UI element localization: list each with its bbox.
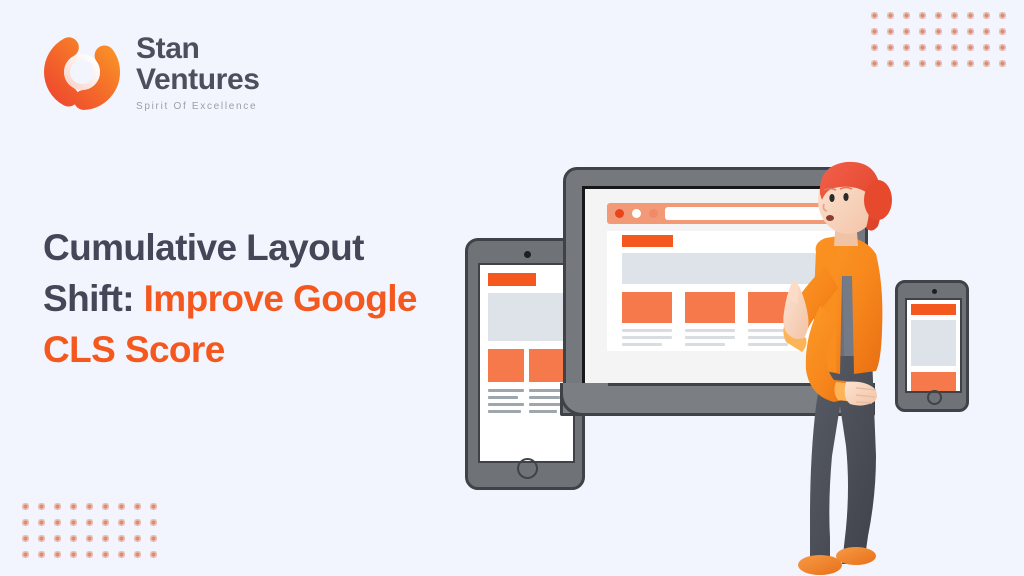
dot	[54, 551, 61, 558]
dot	[983, 28, 990, 35]
decorative-dot-grid-bottom-left	[22, 503, 157, 558]
dot	[871, 28, 878, 35]
dot	[102, 551, 109, 558]
dot	[999, 60, 1006, 67]
browser-dot-close-icon	[615, 209, 624, 218]
browser-dot-maximize-icon	[649, 209, 658, 218]
stan-ventures-ring-icon	[42, 32, 122, 112]
content-card-block	[685, 292, 735, 323]
logo-name-line-2: Ventures	[136, 65, 260, 96]
brand-logo[interactable]: Stan Ventures Spirit Of Excellence	[42, 32, 260, 112]
dot	[887, 60, 894, 67]
dot	[967, 60, 974, 67]
dot	[102, 535, 109, 542]
dot	[999, 44, 1006, 51]
dot	[903, 28, 910, 35]
dot	[102, 519, 109, 526]
logo-tagline: Spirit Of Excellence	[136, 101, 260, 112]
dot	[983, 60, 990, 67]
dot	[22, 519, 29, 526]
dot	[70, 519, 77, 526]
dot	[54, 535, 61, 542]
content-card-block	[622, 292, 672, 323]
content-text-line	[488, 410, 521, 413]
dot	[134, 535, 141, 542]
dot	[22, 551, 29, 558]
person-pointing-at-screen	[780, 156, 910, 576]
logo-wordmark: Stan Ventures Spirit Of Excellence	[136, 32, 260, 111]
content-hero-block	[488, 293, 565, 341]
tablet-camera-icon	[524, 251, 531, 258]
content-text-line	[685, 336, 735, 339]
dot	[150, 535, 157, 542]
dot	[38, 519, 45, 526]
responsive-devices-illustration	[455, 150, 1015, 576]
dot	[134, 503, 141, 510]
content-text-line	[622, 329, 672, 332]
dot	[919, 12, 926, 19]
dot	[86, 519, 93, 526]
dot	[935, 12, 942, 19]
character-shoe-right	[836, 547, 876, 565]
banner-canvas: Stan Ventures Spirit Of Excellence Cumul…	[0, 0, 1024, 576]
phone-camera-icon	[932, 289, 937, 294]
dot	[150, 503, 157, 510]
dot	[967, 12, 974, 19]
dot	[70, 503, 77, 510]
character-eye-left	[829, 194, 834, 202]
dot	[38, 551, 45, 558]
dot	[871, 60, 878, 67]
dot	[935, 44, 942, 51]
content-text-line	[622, 343, 662, 346]
dot	[86, 535, 93, 542]
dot	[999, 12, 1006, 19]
content-text-line	[622, 336, 672, 339]
dot	[86, 503, 93, 510]
laptop-base-rounded-edge	[560, 383, 608, 416]
dot	[118, 551, 125, 558]
character-hair-bun	[864, 180, 892, 220]
dot	[983, 44, 990, 51]
content-text-line	[488, 389, 524, 392]
content-text-line	[529, 410, 557, 413]
dot	[70, 535, 77, 542]
phone-screen	[905, 298, 962, 393]
dot	[118, 503, 125, 510]
dot	[967, 28, 974, 35]
character-index-finger	[790, 280, 798, 304]
character-eye-right	[843, 193, 848, 201]
dot	[935, 60, 942, 67]
dot	[118, 519, 125, 526]
dot	[951, 60, 958, 67]
dot	[150, 551, 157, 558]
dot	[999, 28, 1006, 35]
content-hero-block	[911, 320, 956, 366]
dot	[150, 519, 157, 526]
dot	[903, 60, 910, 67]
tablet-screen	[478, 263, 575, 463]
content-card-block	[529, 349, 565, 382]
tablet-home-button	[517, 458, 538, 479]
page-title: Cumulative Layout Shift: Improve Google …	[43, 222, 463, 375]
dot	[70, 551, 77, 558]
content-heading-block	[488, 273, 536, 286]
dot	[86, 551, 93, 558]
dot	[887, 12, 894, 19]
dot	[134, 519, 141, 526]
dot	[38, 535, 45, 542]
dot	[54, 503, 61, 510]
dot	[951, 28, 958, 35]
dot	[887, 44, 894, 51]
dot	[102, 503, 109, 510]
content-text-line	[488, 403, 524, 406]
content-heading-block	[911, 304, 956, 315]
logo-name-line-1: Stan	[136, 34, 260, 65]
dot	[935, 28, 942, 35]
dot	[871, 12, 878, 19]
dot	[919, 28, 926, 35]
dot	[118, 535, 125, 542]
dot	[983, 12, 990, 19]
dot	[134, 551, 141, 558]
character-mouth	[826, 215, 834, 221]
dot	[903, 44, 910, 51]
dot	[887, 28, 894, 35]
content-card-block	[488, 349, 524, 382]
content-text-line	[529, 396, 560, 399]
browser-dot-minimize-icon	[632, 209, 641, 218]
dot	[951, 12, 958, 19]
content-text-line	[685, 329, 735, 332]
character-shoe-left	[798, 555, 842, 575]
dot	[967, 44, 974, 51]
dot	[54, 519, 61, 526]
content-text-line	[488, 396, 518, 399]
dot	[919, 60, 926, 67]
dot	[903, 12, 910, 19]
dot	[871, 44, 878, 51]
content-heading-block	[622, 235, 673, 247]
phone-home-button	[927, 390, 942, 405]
dot	[919, 44, 926, 51]
dot	[22, 535, 29, 542]
content-card-block	[911, 372, 956, 391]
content-text-line	[685, 343, 725, 346]
dot	[22, 503, 29, 510]
headline-accent-part-1: Improve	[144, 278, 284, 319]
decorative-dot-grid-top-right	[871, 12, 1006, 67]
dot	[951, 44, 958, 51]
dot	[38, 503, 45, 510]
